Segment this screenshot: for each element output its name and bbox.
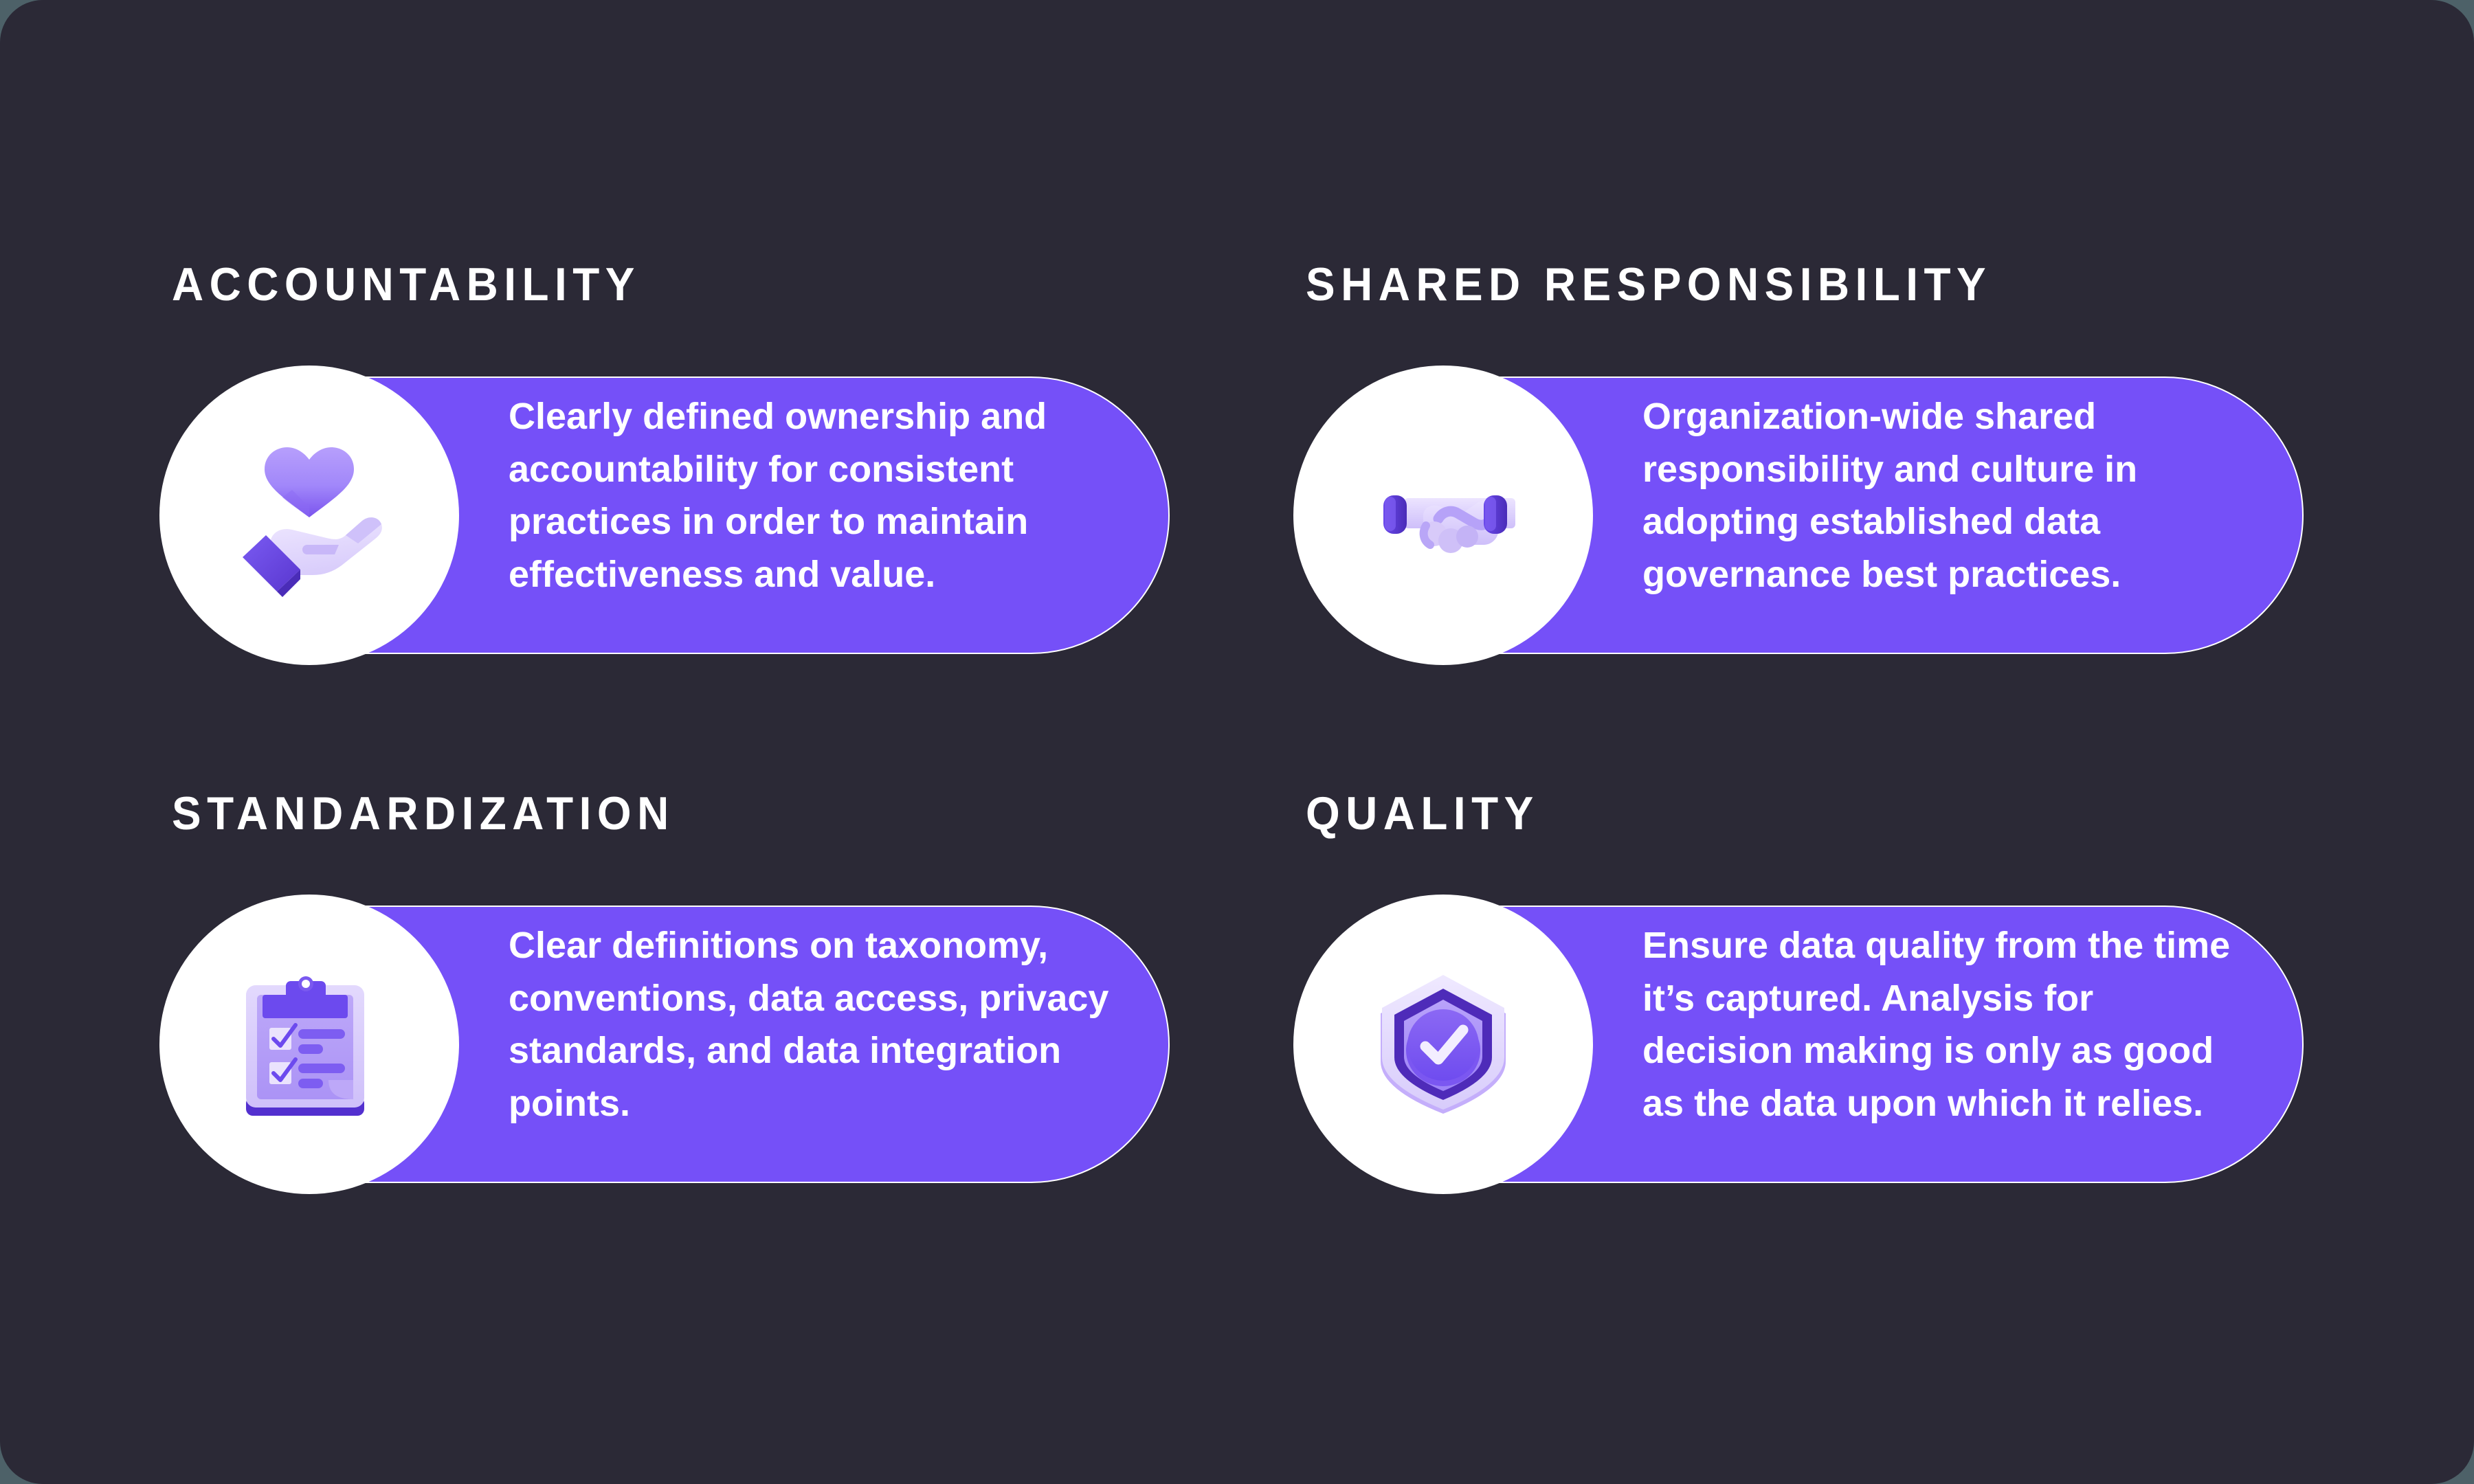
principle-icon-disc xyxy=(1293,895,1593,1194)
principle-icon-disc xyxy=(1293,366,1593,665)
principle-block-accountability: ACCOUNTABILITY xyxy=(172,261,1306,790)
principle-block-quality: QUALITY xyxy=(1306,790,2440,1319)
principle-body: Clearly defined ownership and accountabi… xyxy=(509,390,1127,601)
infographic-canvas: ACCOUNTABILITY xyxy=(0,0,2474,1484)
handshake-icon xyxy=(1357,429,1529,601)
principle-heading: SHARED RESPONSIBILITY xyxy=(1306,261,1992,308)
principle-block-shared-responsibility: SHARED RESPONSIBILITY xyxy=(1306,261,2440,790)
principle-body: Ensure data quality from the time it’s c… xyxy=(1642,919,2233,1130)
clipboard-checklist-icon xyxy=(227,962,392,1127)
principle-icon-disc xyxy=(159,895,459,1194)
principle-block-standardization: STANDARDIZATION xyxy=(172,790,1306,1319)
shield-check-icon xyxy=(1357,958,1529,1130)
principle-body: Organization-wide shared responsibility … xyxy=(1642,390,2233,601)
principle-heading: ACCOUNTABILITY xyxy=(172,261,640,308)
principle-heading: QUALITY xyxy=(1306,790,1539,837)
hand-holding-heart-icon xyxy=(223,429,395,601)
principle-icon-disc xyxy=(159,366,459,665)
principle-heading: STANDARDIZATION xyxy=(172,790,675,837)
principle-body: Clear definitions on taxonomy, conventio… xyxy=(509,919,1127,1130)
principles-grid: ACCOUNTABILITY xyxy=(172,261,2302,1237)
